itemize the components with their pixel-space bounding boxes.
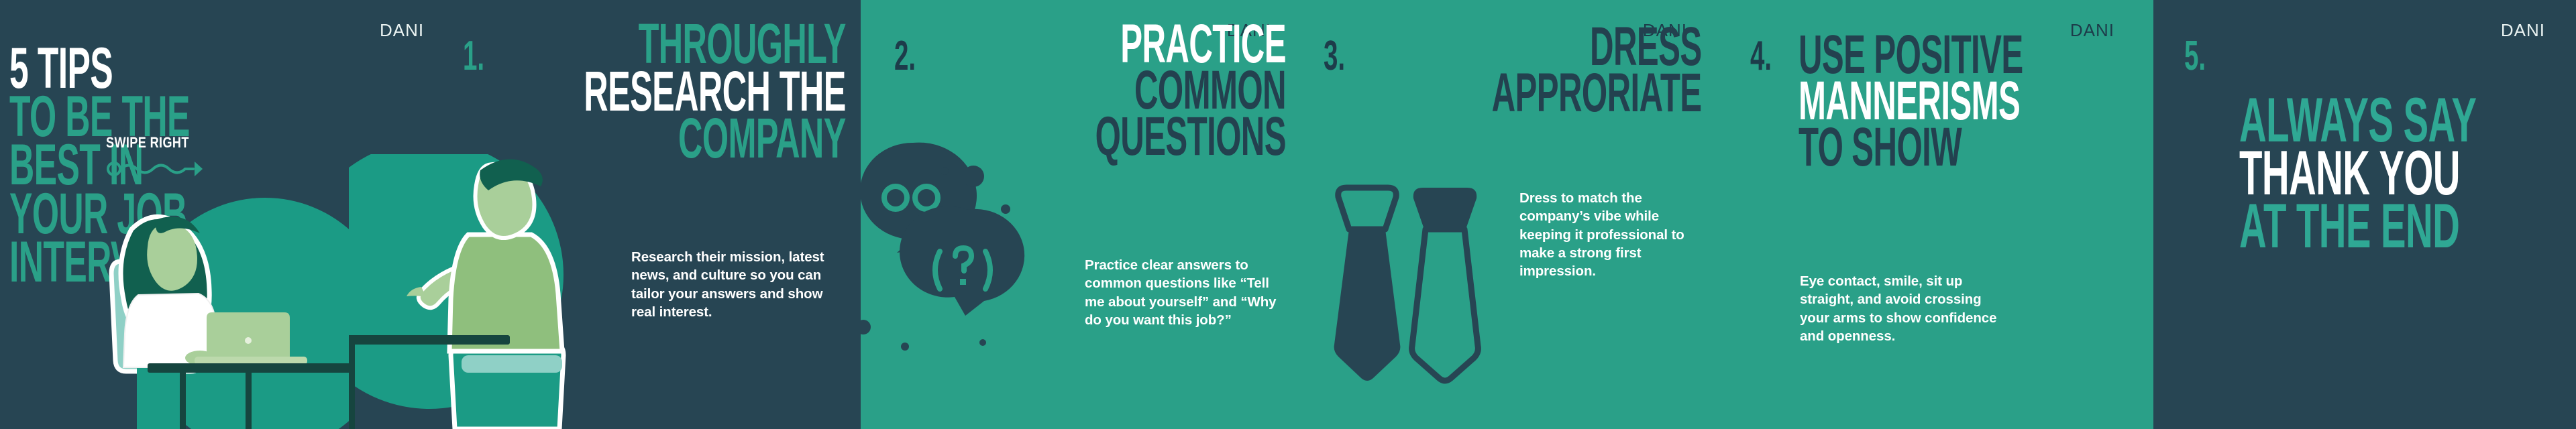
swipe-arrow-icon <box>106 154 207 177</box>
panel-cover: 5 TIPS TO BE THE BEST IN YOUR JOB INTERV… <box>0 0 349 429</box>
tips-carousel: 5 TIPS TO BE THE BEST IN YOUR JOB INTERV… <box>0 0 2576 429</box>
swipe-right-label: SWIPE RIGHT <box>106 134 189 151</box>
tip-3-headline-line-2: APPRORIATE <box>1492 70 1702 117</box>
tip-1-body: Research their mission, latest news, and… <box>631 248 846 321</box>
interview-illustration-left <box>80 181 349 429</box>
tip-5-headline-line-3: AT THE END <box>2239 200 2476 253</box>
tip-1-headline: THROUGHLY RESEARCH THE COMPANY <box>409 20 846 162</box>
panel-tip-1: DANI 1. THROUGHLY RESEARCH THE COMPANY R… <box>349 0 861 429</box>
tip-4-headline-line-3: TO SHOIW <box>1799 125 2023 171</box>
panel-tip-3: DANI 3. DRESS APPRORIATE Dress to match … <box>1302 0 1718 429</box>
panel-tip-4: DANI 4. USE POSITIVE MANNERISMS TO SHOIW… <box>1718 0 2145 429</box>
speech-bubbles-illustration <box>861 137 1075 369</box>
tip-4-headline: USE POSITIVE MANNERISMS TO SHOIW <box>1799 32 2145 171</box>
step-number: 3. <box>1324 32 1345 80</box>
step-number: 2. <box>894 32 916 80</box>
tip-3-body: Dress to match the company’s vibe while … <box>1519 189 1702 280</box>
tip-4-body: Eye contact, smile, sit up straight, and… <box>1800 272 2001 345</box>
step-number: 4. <box>1750 32 1772 80</box>
tip-3-headline: DRESS APPRORIATE <box>1352 24 1702 117</box>
interview-illustration-right <box>349 154 631 429</box>
tip-2-body: Practice clear answers to common questio… <box>1085 256 1286 329</box>
watermark-dani: DANI <box>2501 20 2545 41</box>
swipe-right-hint: SWIPE RIGHT <box>106 134 207 180</box>
step-number: 5. <box>2184 32 2206 80</box>
tip-2-headline-line-3: QUESTIONS <box>1095 114 1286 160</box>
panel-tip-5: DANI 5. ALWAYS SAY THANK YOU AT THE END <box>2145 0 2576 429</box>
neckties-illustration <box>1321 182 1495 414</box>
tip-5-headline: ALWAYS SAY THANK YOU AT THE END <box>2239 94 2576 253</box>
accent-edge-bar <box>2145 0 2153 429</box>
panel-tip-2: DANI 2. PRACTICE COMMON QUESTIONS Practi… <box>861 0 1302 429</box>
